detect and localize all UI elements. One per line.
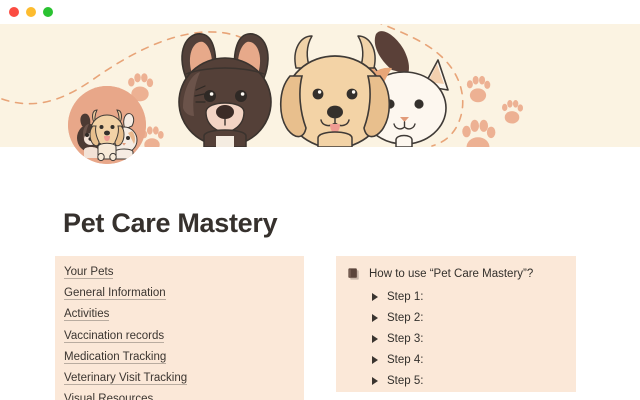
chevron-right-icon[interactable] [372,335,378,343]
nav-link-visual-resources[interactable]: Visual Resources [55,389,304,400]
howto-step-label: Step 5: [387,373,423,389]
nav-link-label: General Information [64,287,166,300]
chevron-right-icon[interactable] [372,293,378,301]
howto-step-toggle[interactable]: Step 3: [336,328,576,349]
nav-link-label: Veterinary Visit Tracking [64,372,187,385]
nav-link-veterinary-visit-tracking[interactable]: Veterinary Visit Tracking [55,368,304,389]
howto-column: How to use “Pet Care Mastery”? Step 1: S… [336,256,576,392]
minimize-button[interactable] [26,7,36,17]
chevron-right-icon[interactable] [372,314,378,322]
nav-link-label: Activities [64,308,109,321]
nav-link-general-information[interactable]: General Information [55,283,304,304]
nav-link-activities[interactable]: Activities [55,304,304,325]
window-titlebar [0,0,640,24]
nav-link-vaccination-records[interactable]: Vaccination records [55,326,304,347]
nav-link-medication-tracking[interactable]: Medication Tracking [55,347,304,368]
book-icon [347,267,362,282]
page-avatar-icon[interactable] [68,86,146,164]
close-button[interactable] [9,7,19,17]
nav-link-label: Vaccination records [64,330,164,343]
howto-heading-row: How to use “Pet Care Mastery”? [336,262,576,286]
howto-step-label: Step 1: [387,289,423,305]
chevron-right-icon[interactable] [372,377,378,385]
howto-step-toggle[interactable]: Step 1: [336,286,576,307]
maximize-button[interactable] [43,7,53,17]
howto-step-label: Step 2: [387,310,423,326]
app-window: Pet Care Mastery Your Pets General Infor… [0,0,640,400]
page-title[interactable]: Pet Care Mastery [63,205,277,241]
howto-step-toggle[interactable]: Step 4: [336,350,576,371]
howto-heading-label: How to use “Pet Care Mastery”? [369,266,533,282]
window-controls [9,7,53,17]
chevron-right-icon[interactable] [372,356,378,364]
nav-link-column: Your Pets General Information Activities… [55,256,304,400]
nav-link-label: Your Pets [64,266,113,279]
nav-link-label: Visual Resources [64,393,153,400]
nav-link-your-pets[interactable]: Your Pets [55,262,304,283]
howto-step-toggle[interactable]: Step 5: [336,371,576,392]
howto-step-label: Step 4: [387,352,423,368]
howto-step-label: Step 3: [387,331,423,347]
nav-link-label: Medication Tracking [64,351,166,364]
howto-step-toggle[interactable]: Step 2: [336,307,576,328]
